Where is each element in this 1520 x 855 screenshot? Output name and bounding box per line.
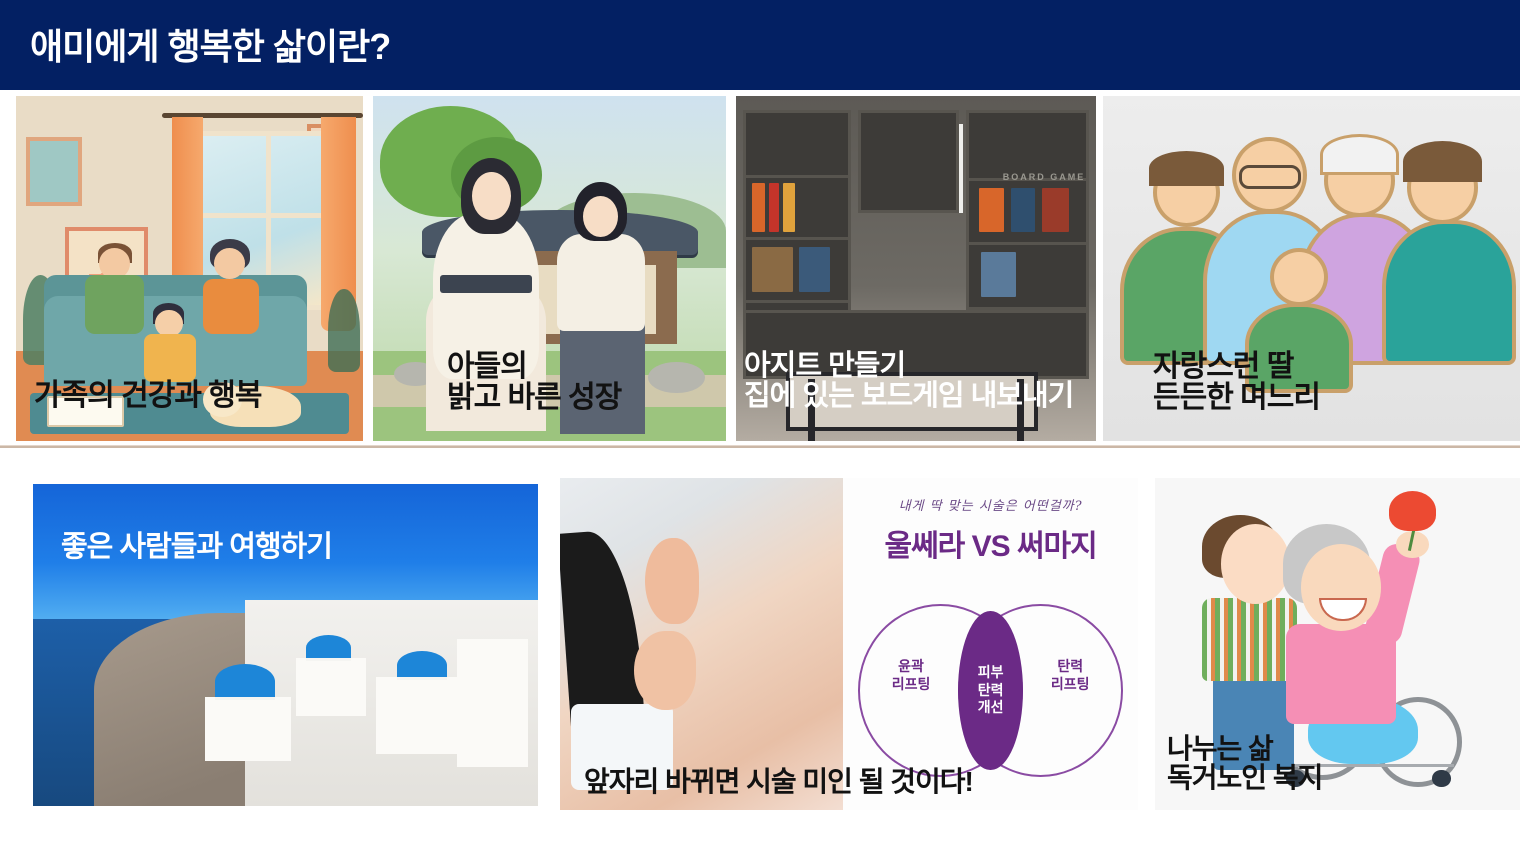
venn-label-right: 탄력 리프팅 [1035,657,1106,693]
tile-elderly-welfare[interactable]: 나누는 삶 독거노인 복지 [1155,478,1520,810]
infographic-headline: 울쎄라 VS 써마지 [843,521,1138,565]
tile-travel[interactable]: 좋은 사람들과 여행하기 [33,484,538,806]
tile-hanbok-son[interactable]: 아들의 밝고 바른 성장 [373,96,726,441]
tile-caption: 앞자리 바뀌면 시술 미인 될 것이다! [584,767,973,796]
venn-label-center: 피부 탄력 개선 [978,664,1004,717]
slide-header-banner: 애미에게 행복한 삶이란? [0,0,1520,90]
clinic-infographic: 내게 딱 맞는 시술은 어떤걸까? 울쎄라 VS 써마지 윤곽 리프팅 피부 탄… [843,478,1138,810]
facial-treatment-photo [560,478,843,810]
venn-label-left: 윤곽 리프팅 [876,657,947,693]
tile-board-game-hideout[interactable]: BOARD GAME 아지트 만들기 집에 있는 보드게임 내보내기 [736,96,1096,441]
page-title: 애미에게 행복한 삶이란? [30,18,390,70]
tile-caption: 가족의 건강과 행복 [34,380,261,411]
tile-proud-daughter[interactable]: 자랑스런 딸 든든한 며느리 [1103,96,1520,441]
tile-family-home[interactable]: 가족의 건강과 행복 [16,96,363,441]
row-divider [0,445,1520,448]
tile-skin-clinic[interactable]: 내게 딱 맞는 시술은 어떤걸까? 울쎄라 VS 써마지 윤곽 리프팅 피부 탄… [560,478,1138,810]
venn-intersection: 피부 탄력 개선 [958,611,1023,770]
slide-root: 애미에게 행복한 삶이란? 가족의 건강과 행복 [0,0,1520,855]
tile-caption: 자랑스런 딸 든든한 며느리 [1153,351,1320,413]
shop-sign-text: BOARD GAME [1003,172,1086,182]
tile-caption: 나누는 삶 독거노인 복지 [1167,734,1322,792]
infographic-script-line: 내게 딱 맞는 시술은 어떤걸까? [843,495,1138,514]
tile-caption: 아지트 만들기 집에 있는 보드게임 내보내기 [744,351,1073,411]
tile-caption: 아들의 밝고 바른 성장 [447,351,621,413]
tile-caption: 좋은 사람들과 여행하기 [61,532,332,562]
